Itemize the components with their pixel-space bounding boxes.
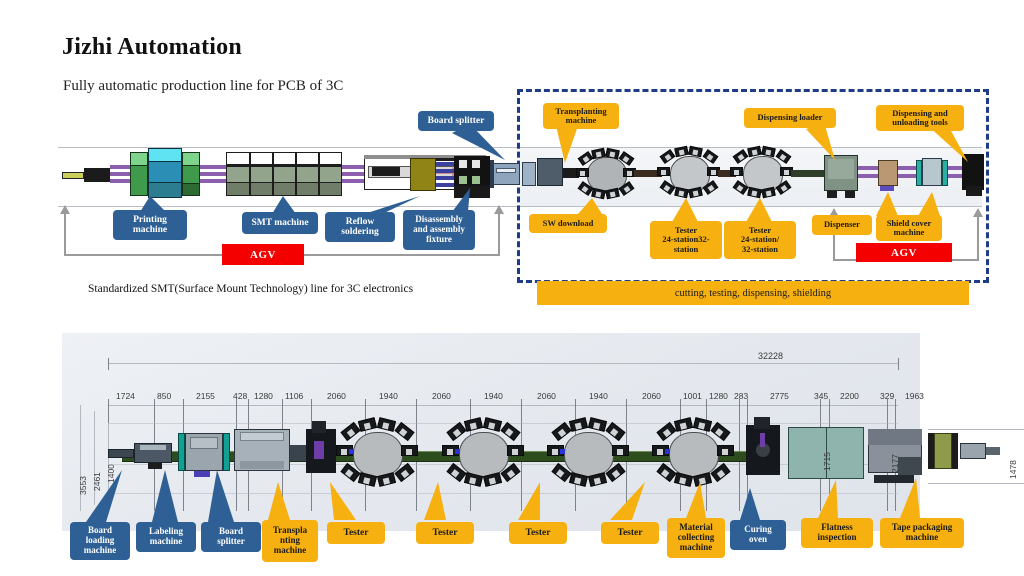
slide-canvas: Jizhi Automation Fully automatic product… [0, 0, 1024, 576]
callout-sw-download[interactable]: SW download [529, 214, 607, 233]
cad-callout-tester-4[interactable]: Tester [601, 522, 659, 544]
callout-board-splitter[interactable]: Board splitter [418, 111, 494, 131]
cad-callout-flatness-inspection[interactable]: Flatness inspection [801, 518, 873, 548]
cad-callout-curing-oven[interactable]: Curing oven [730, 520, 786, 550]
callout-tester-2[interactable]: Tester 24-station/ 32-station [724, 221, 796, 259]
cad-callout-board-loading-machine[interactable]: Board loading machine [70, 522, 130, 560]
cad-callout-material-collecting-machine[interactable]: Material collecting machine [667, 518, 725, 558]
cutting-testing-strip: cutting, testing, dispensing, shielding [537, 281, 969, 305]
callout-disassembly-fixture[interactable]: Disassembly and assembly fixture [403, 210, 475, 250]
agv-badge-left: AGV [222, 244, 304, 265]
callout-smt-machine[interactable]: SMT machine [242, 212, 318, 234]
cad-callout-labeling-machine[interactable]: Labeling machine [136, 522, 196, 552]
callout-dispensing-loader[interactable]: Dispensing loader [744, 108, 836, 128]
callout-shield-cover-machine[interactable]: Shield cover machine [876, 215, 942, 241]
callout-dispensing-unloading-tools[interactable]: Dispensing and unloading tools [876, 105, 964, 131]
cad-callout-transplanting-machine[interactable]: Transpla nting machine [262, 520, 318, 562]
callout-dispenser[interactable]: Dispenser [812, 215, 872, 235]
callout-printing-machine[interactable]: Printing machine [113, 210, 187, 240]
cad-callout-tester-2[interactable]: Tester [416, 522, 474, 544]
callout-tester-1[interactable]: Tester 24-station32- station [650, 221, 722, 259]
agv-badge-right: AGV [856, 243, 952, 262]
cad-callout-tape-packaging-machine[interactable]: Tape packaging machine [880, 518, 964, 548]
cad-callout-tester-1[interactable]: Tester [327, 522, 385, 544]
callout-transplanting-machine[interactable]: Transplanting machine [543, 103, 619, 129]
cad-callout-board-splitter[interactable]: Board splitter [201, 522, 261, 552]
cad-callout-tester-3[interactable]: Tester [509, 522, 567, 544]
callout-reflow-soldering[interactable]: Reflow soldering [325, 212, 395, 242]
